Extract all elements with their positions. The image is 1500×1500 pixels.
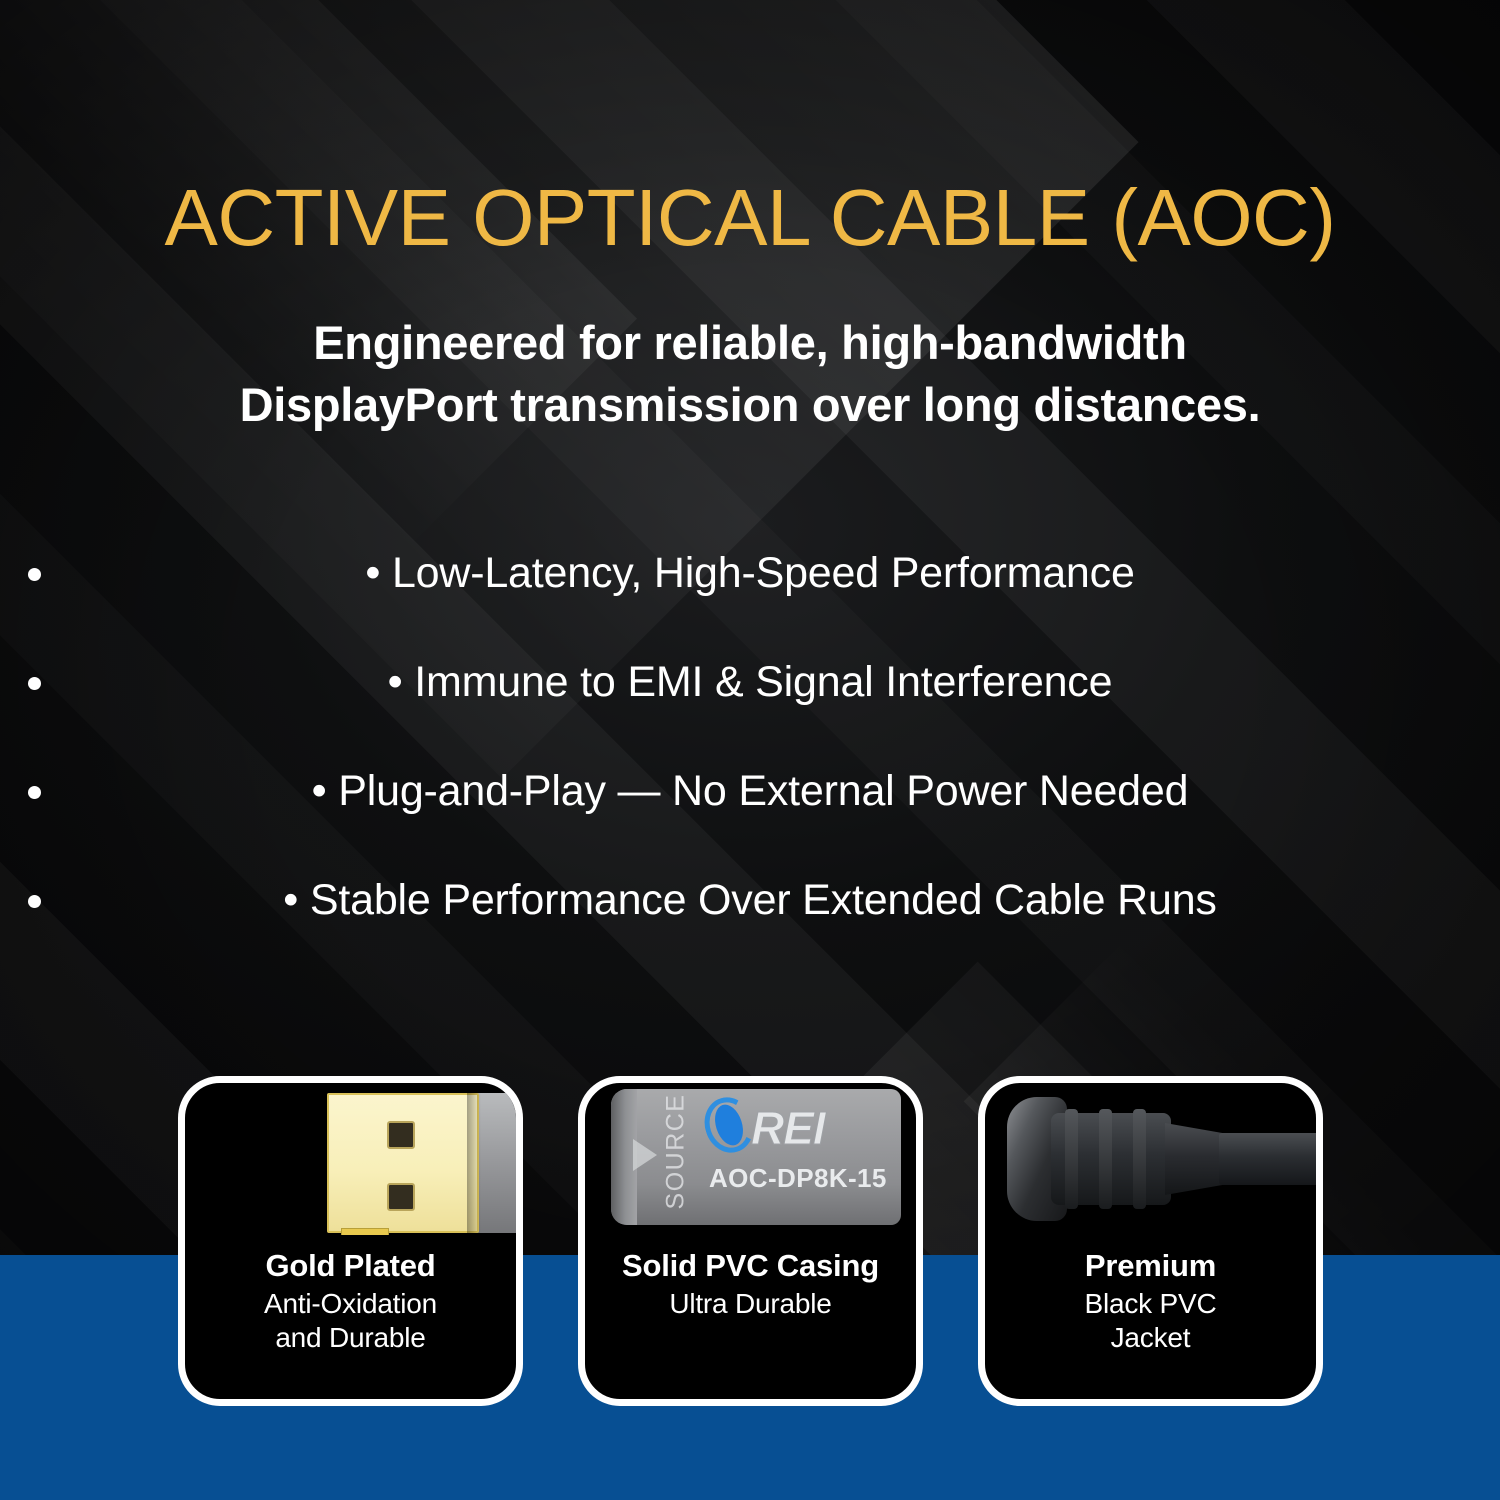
orei-logo: REI xyxy=(703,1097,871,1157)
source-label-vertical: SOURCE xyxy=(663,1091,689,1211)
poster-content: ACTIVE OPTICAL CABLE (AOC) Engineered fo… xyxy=(0,0,1500,1500)
card-subtitle-pvc-casing: Ultra Durable xyxy=(669,1287,831,1321)
source-label-text: SOURCE xyxy=(662,1093,691,1209)
feature-card-pvc-casing: SOURCE REI AOC-DP8K-15 Solid PVC Casing … xyxy=(578,1076,923,1406)
subtitle: Engineered for reliable, high-bandwidth … xyxy=(120,312,1380,436)
feature-bullet-4: • Stable Performance Over Extended Cable… xyxy=(60,879,1440,922)
cable-taper xyxy=(1165,1123,1223,1195)
card-subtitle-premium: Black PVCJacket xyxy=(1084,1287,1216,1355)
page-title: ACTIVE OPTICAL CABLE (AOC) xyxy=(0,178,1500,258)
feature-card-premium-jacket: Premium Black PVCJacket xyxy=(978,1076,1323,1406)
card-subtitle-gold-plated: Anti-Oxidationand Durable xyxy=(264,1287,437,1355)
strain-relief-rib-2 xyxy=(1099,1109,1112,1209)
feature-bullet-1: • Low-Latency, High-Speed Performance xyxy=(60,552,1440,595)
strain-relief-rib-3 xyxy=(1133,1109,1146,1209)
cable-strain-relief-boot xyxy=(1051,1113,1171,1205)
connector-model-number: AOC-DP8K-15 xyxy=(709,1163,887,1194)
connector-pin-bottom xyxy=(387,1183,415,1211)
card-title-pvc-casing: Solid PVC Casing xyxy=(622,1249,879,1283)
subtitle-line-1: Engineered for reliable, high-bandwidth xyxy=(120,312,1380,374)
subtitle-line-2: DisplayPort transmission over long dista… xyxy=(120,374,1380,436)
feature-bullet-list: • Low-Latency, High-Speed Performance • … xyxy=(60,552,1440,922)
orei-logo-o-icon xyxy=(705,1097,753,1153)
black-cable-illustration xyxy=(999,1083,1316,1235)
gold-connector-illustration xyxy=(327,1091,516,1235)
pvc-casing-connector-image: SOURCE REI AOC-DP8K-15 xyxy=(585,1083,916,1235)
feature-card-gold-plated: Gold Plated Anti-Oxidationand Durable xyxy=(178,1076,523,1406)
connector-bottom-tab xyxy=(341,1228,389,1235)
black-pvc-jacket-image xyxy=(985,1083,1316,1235)
connector-gold-contact-plate xyxy=(327,1093,479,1233)
strain-relief-rib-1 xyxy=(1065,1109,1078,1209)
feature-bullet-3: • Plug-and-Play — No External Power Need… xyxy=(60,770,1440,813)
connector-shadow xyxy=(467,1093,481,1233)
card-title-gold-plated: Gold Plated xyxy=(265,1249,435,1283)
orei-logo-wordmark: REI xyxy=(751,1101,825,1155)
gold-plated-connector-image xyxy=(185,1083,516,1235)
card-title-premium: Premium xyxy=(1085,1249,1216,1283)
product-feature-poster: ACTIVE OPTICAL CABLE (AOC) Engineered fo… xyxy=(0,0,1500,1500)
connector-pin-top xyxy=(387,1121,415,1149)
source-direction-arrow-icon xyxy=(633,1139,657,1171)
feature-bullet-2: • Immune to EMI & Signal Interference xyxy=(60,661,1440,704)
feature-card-row: Gold Plated Anti-Oxidationand Durable SO… xyxy=(178,1076,1323,1406)
cable-jacket xyxy=(1219,1133,1316,1185)
